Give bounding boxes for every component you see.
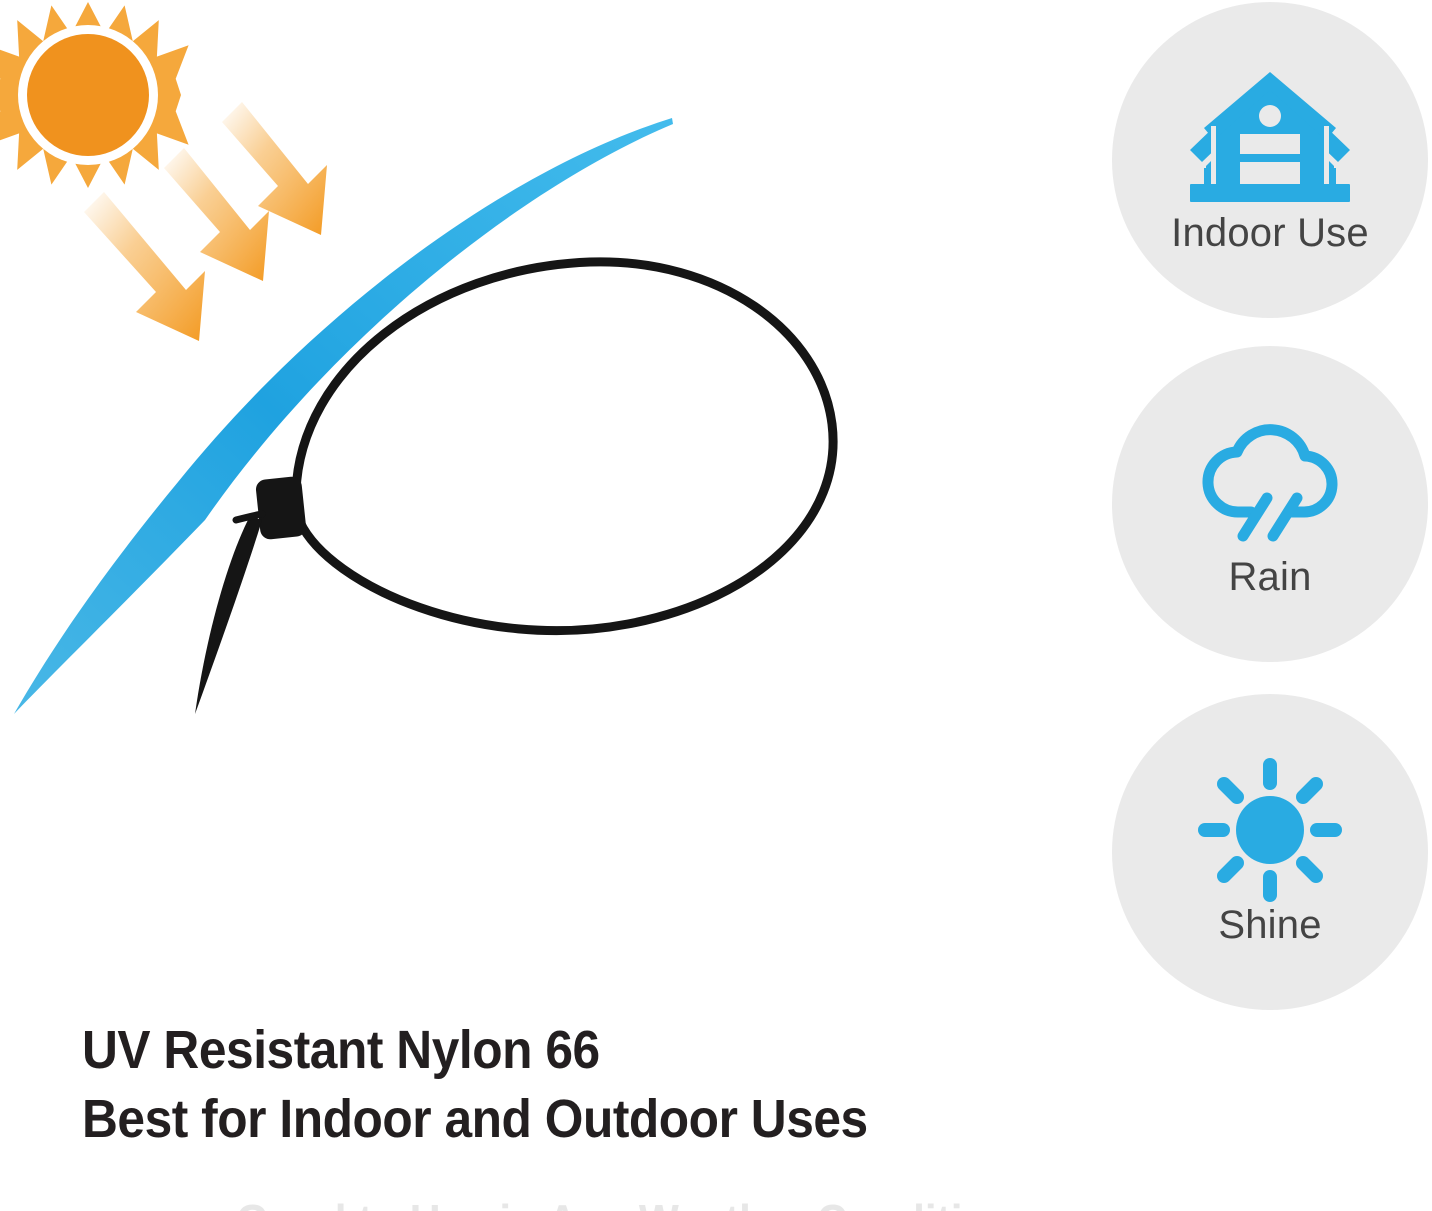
house-icon: [1185, 67, 1355, 209]
sun-shine-icon: [1185, 759, 1355, 901]
headline-block: UV Resistant Nylon 66 Best for Indoor an…: [82, 1016, 1082, 1154]
footer-cutoff-region: Good to Use in Any Weather Conditions: [0, 1196, 1432, 1211]
feature-badge-label: Shine: [1218, 905, 1321, 945]
rain-cloud-icon: [1185, 411, 1355, 553]
headline-line-2: Best for Indoor and Outdoor Uses: [82, 1085, 1002, 1154]
feature-badge-shine[interactable]: Shine: [1112, 694, 1428, 1010]
feature-badge-indoor-use[interactable]: Indoor Use: [1112, 2, 1428, 318]
uv-ray-arrow: [164, 148, 269, 281]
headline-line-1: UV Resistant Nylon 66: [82, 1016, 1002, 1085]
feature-badge-label: Indoor Use: [1171, 213, 1369, 253]
sun-burst-icon: [0, 2, 189, 188]
uv-resistance-illustration: [0, 0, 1100, 1010]
feature-badge-label: Rain: [1228, 557, 1311, 597]
cable-tie-head: [255, 476, 307, 540]
feature-badge-list: Indoor Use Rain: [1108, 0, 1432, 1020]
feature-badge-rain[interactable]: Rain: [1112, 346, 1428, 662]
cable-tie-loop: [195, 262, 833, 714]
footer-cutoff-text: Good to Use in Any Weather Conditions: [236, 1196, 1038, 1211]
infographic-canvas: Indoor Use Rain: [0, 0, 1432, 1211]
uv-ray-arrow: [84, 192, 205, 341]
